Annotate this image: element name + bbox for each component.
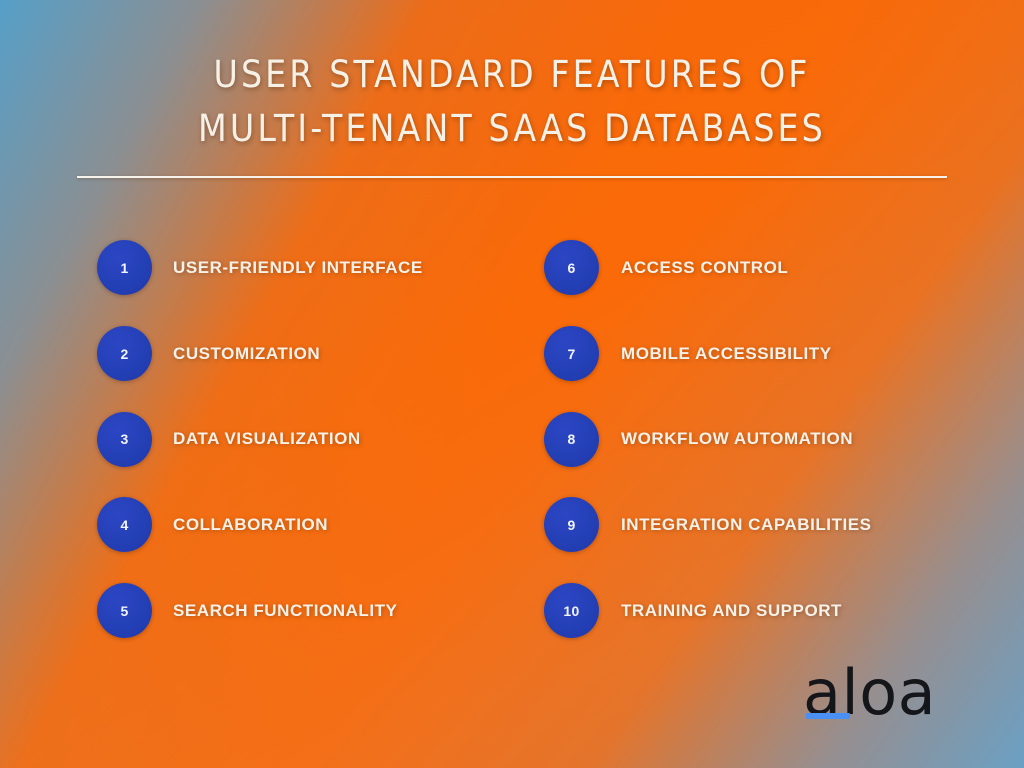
number-badge-6: 6 <box>544 240 599 295</box>
number-badge-10: 10 <box>544 583 599 638</box>
feature-item-10: 10 TRAINING AND SUPPORT <box>544 568 872 654</box>
number-badge-8: 8 <box>544 412 599 467</box>
number-badge-1: 1 <box>97 240 152 295</box>
number-badge-2: 2 <box>97 326 152 381</box>
title-line-2: MULTI-TENANT SAAS DATABASES <box>0 102 1024 156</box>
feature-item-8: 8 WORKFLOW AUTOMATION <box>544 396 872 482</box>
badge-number: 8 <box>567 432 575 446</box>
feature-label: CUSTOMIZATION <box>173 344 320 364</box>
feature-label: ACCESS CONTROL <box>621 258 788 278</box>
feature-label: DATA VISUALIZATION <box>173 429 361 449</box>
feature-label: TRAINING AND SUPPORT <box>621 601 842 621</box>
badge-number: 3 <box>120 432 128 446</box>
feature-column-left: 1 USER-FRIENDLY INTERFACE 2 CUSTOMIZATIO… <box>97 225 423 653</box>
feature-label: INTEGRATION CAPABILITIES <box>621 515 872 535</box>
badge-number: 6 <box>567 261 575 275</box>
badge-number: 2 <box>120 347 128 361</box>
feature-label: USER-FRIENDLY INTERFACE <box>173 258 423 278</box>
slide-canvas: USER STANDARD FEATURES OF MULTI-TENANT S… <box>0 0 1024 768</box>
badge-number: 10 <box>563 604 579 618</box>
feature-item-9: 9 INTEGRATION CAPABILITIES <box>544 482 872 568</box>
feature-column-right: 6 ACCESS CONTROL 7 MOBILE ACCESSIBILITY … <box>544 225 872 653</box>
feature-item-4: 4 COLLABORATION <box>97 482 423 568</box>
feature-label: COLLABORATION <box>173 515 328 535</box>
number-badge-7: 7 <box>544 326 599 381</box>
slide-title: USER STANDARD FEATURES OF MULTI-TENANT S… <box>0 48 1024 156</box>
title-line-1: USER STANDARD FEATURES OF <box>0 48 1024 102</box>
badge-number: 9 <box>567 518 575 532</box>
feature-item-1: 1 USER-FRIENDLY INTERFACE <box>97 225 423 311</box>
logo-underline-accent <box>806 713 850 719</box>
number-badge-9: 9 <box>544 497 599 552</box>
feature-item-3: 3 DATA VISUALIZATION <box>97 396 423 482</box>
badge-number: 4 <box>120 518 128 532</box>
feature-item-2: 2 CUSTOMIZATION <box>97 311 423 397</box>
badge-number: 1 <box>120 261 128 275</box>
number-badge-3: 3 <box>97 412 152 467</box>
number-badge-4: 4 <box>97 497 152 552</box>
feature-label: MOBILE ACCESSIBILITY <box>621 344 832 364</box>
feature-item-7: 7 MOBILE ACCESSIBILITY <box>544 311 872 397</box>
title-divider <box>77 176 947 178</box>
badge-number: 7 <box>567 347 575 361</box>
feature-label: WORKFLOW AUTOMATION <box>621 429 853 449</box>
feature-item-6: 6 ACCESS CONTROL <box>544 225 872 311</box>
aloa-logo: aloa <box>803 660 943 730</box>
feature-item-5: 5 SEARCH FUNCTIONALITY <box>97 568 423 654</box>
number-badge-5: 5 <box>97 583 152 638</box>
badge-number: 5 <box>120 604 128 618</box>
feature-label: SEARCH FUNCTIONALITY <box>173 601 397 621</box>
